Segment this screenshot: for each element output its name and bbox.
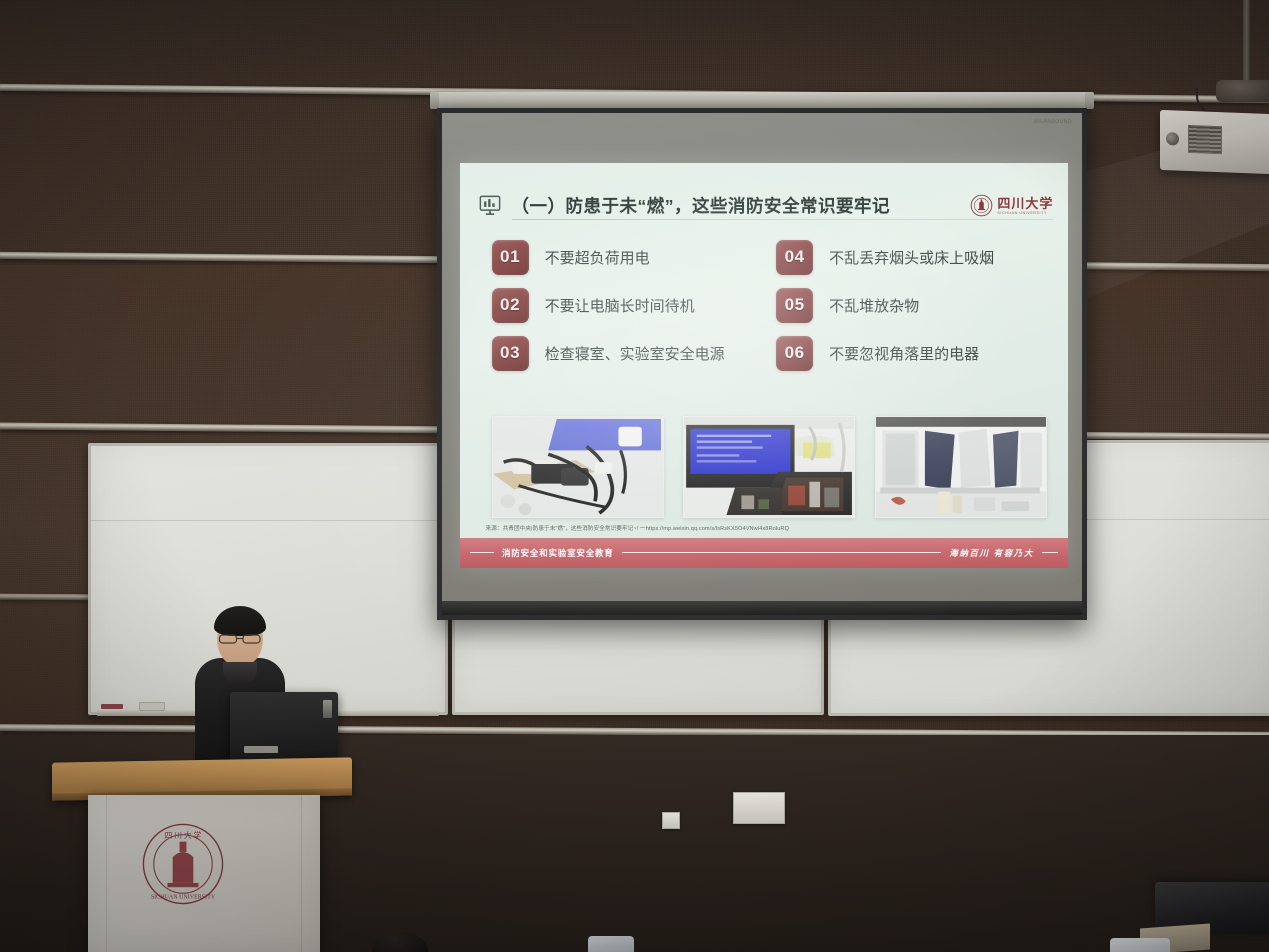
bullet-badge: 06: [776, 336, 813, 371]
projector-lens: [1166, 132, 1179, 145]
podium-seam-left: [106, 795, 107, 952]
lecture-hall-scene: MILANSOUND （一）防患于未“燃”，这些消防安全常识要牢记: [0, 0, 1269, 952]
cluttered-computer-lab-photo: [875, 416, 1047, 518]
bullet-text: 检查寝室、实验室安全电源: [545, 343, 725, 364]
monitor-chart-icon: [479, 195, 501, 216]
projection-screen: MILANSOUND （一）防患于未“燃”，这些消防安全常识要牢记: [437, 108, 1087, 620]
podium-monitor: [230, 692, 338, 762]
screen-housing-cap-right: [1085, 92, 1094, 109]
university-name-en: SICHUAN UNIVERSITY: [997, 212, 1047, 216]
projected-slide: （一）防患于未“燃”，这些消防安全常识要牢记 四川大学: [460, 163, 1068, 568]
audience-head-2: [588, 936, 634, 952]
overloaded-power-strip-photo: [492, 416, 664, 518]
presenter-collar: [223, 662, 257, 684]
podium-seam-right: [301, 795, 302, 952]
bullet-text: 不要忽视角落里的电器: [829, 343, 979, 364]
podium-body: 四 川 大 学 SICHUAN UNIVERSITY: [88, 795, 320, 952]
wall-panel-row-1: [0, 0, 1269, 92]
wall-notice-paper: [733, 792, 785, 824]
footer-left-text: 消防安全和实验室安全教育: [502, 547, 614, 559]
slide-footer-band: 消防安全和实验室安全教育 海纳百川 有容乃大: [460, 538, 1068, 568]
projector-vent: [1188, 125, 1222, 154]
presenter-glasses-icon: [219, 631, 261, 641]
footer-dash-middle: [622, 552, 942, 553]
bullet-item-06: 06 不要忽视角落里的电器: [776, 336, 1047, 371]
footer-dash-right: [1042, 552, 1058, 553]
monitor-brand-label: [244, 746, 278, 753]
bullet-item-02: 02 不要让电脑长时间待机: [492, 288, 763, 323]
messy-desk-blue-screen-laptop-photo: [683, 416, 855, 518]
svg-text:四 川 大 学: 四 川 大 学: [165, 830, 202, 840]
bullet-item-04: 04 不乱丢弃烟头或床上吸烟: [776, 240, 1047, 275]
bullet-item-01: 01 不要超负荷用电: [492, 240, 763, 275]
screen-brand-label: MILANSOUND: [1034, 119, 1072, 125]
bullet-text: 不乱丢弃烟头或床上吸烟: [829, 247, 994, 268]
ceiling-projector: [1160, 110, 1269, 174]
slide-title: （一）防患于未“燃”，这些消防安全常识要牢记: [511, 193, 890, 218]
bullet-badge: 03: [492, 336, 529, 371]
bullet-badge: 04: [776, 240, 813, 275]
bullet-badge: 02: [492, 288, 529, 323]
bullet-badge: 05: [776, 288, 813, 323]
bullet-item-03: 03 检查寝室、实验室安全电源: [492, 336, 763, 371]
bullet-text: 不乱堆放杂物: [829, 295, 919, 316]
bullet-item-05: 05 不乱堆放杂物: [776, 288, 1047, 323]
header-divider: [512, 219, 1054, 221]
bullet-grid: 01 不要超负荷用电 04 不乱丢弃烟头或床上吸烟 02 不要让电脑长时间待机 …: [492, 240, 1047, 371]
audience-object: [1110, 938, 1170, 952]
monitor-power-badge: [323, 700, 332, 718]
source-citation: 来源：共青团中央|防患于未“燃”，这些消防安全常识要牢记~! 一https://…: [486, 524, 1050, 532]
screen-bottom-bar: [442, 601, 1082, 615]
wall-switch-plate: [662, 812, 680, 829]
slide-header: （一）防患于未“燃”，这些消防安全常识要牢记 四川大学: [479, 193, 1053, 218]
university-name-cn: 四川大学: [997, 197, 1053, 210]
bullet-text: 不要超负荷用电: [545, 247, 650, 268]
screen-housing: [434, 92, 1090, 109]
footer-right-text: 海纳百川 有容乃大: [949, 547, 1034, 559]
podium-sichuan-university-seal-icon: 四 川 大 学 SICHUAN UNIVERSITY: [140, 821, 226, 907]
photo-row: [492, 416, 1047, 518]
bullet-badge: 01: [492, 240, 529, 275]
sichuan-university-seal-icon: [970, 194, 993, 217]
whiteboard-eraser: [139, 702, 165, 711]
university-logo: 四川大学 SICHUAN UNIVERSITY: [970, 194, 1053, 217]
footer-dash-left: [470, 552, 494, 553]
projector-pole: [1243, 0, 1250, 86]
screen-housing-cap-left: [430, 92, 439, 109]
whiteboard-marker: [101, 704, 123, 709]
svg-text:SICHUAN UNIVERSITY: SICHUAN UNIVERSITY: [151, 894, 216, 900]
bullet-text: 不要让电脑长时间待机: [545, 295, 695, 316]
university-name-block: 四川大学 SICHUAN UNIVERSITY: [997, 197, 1053, 216]
